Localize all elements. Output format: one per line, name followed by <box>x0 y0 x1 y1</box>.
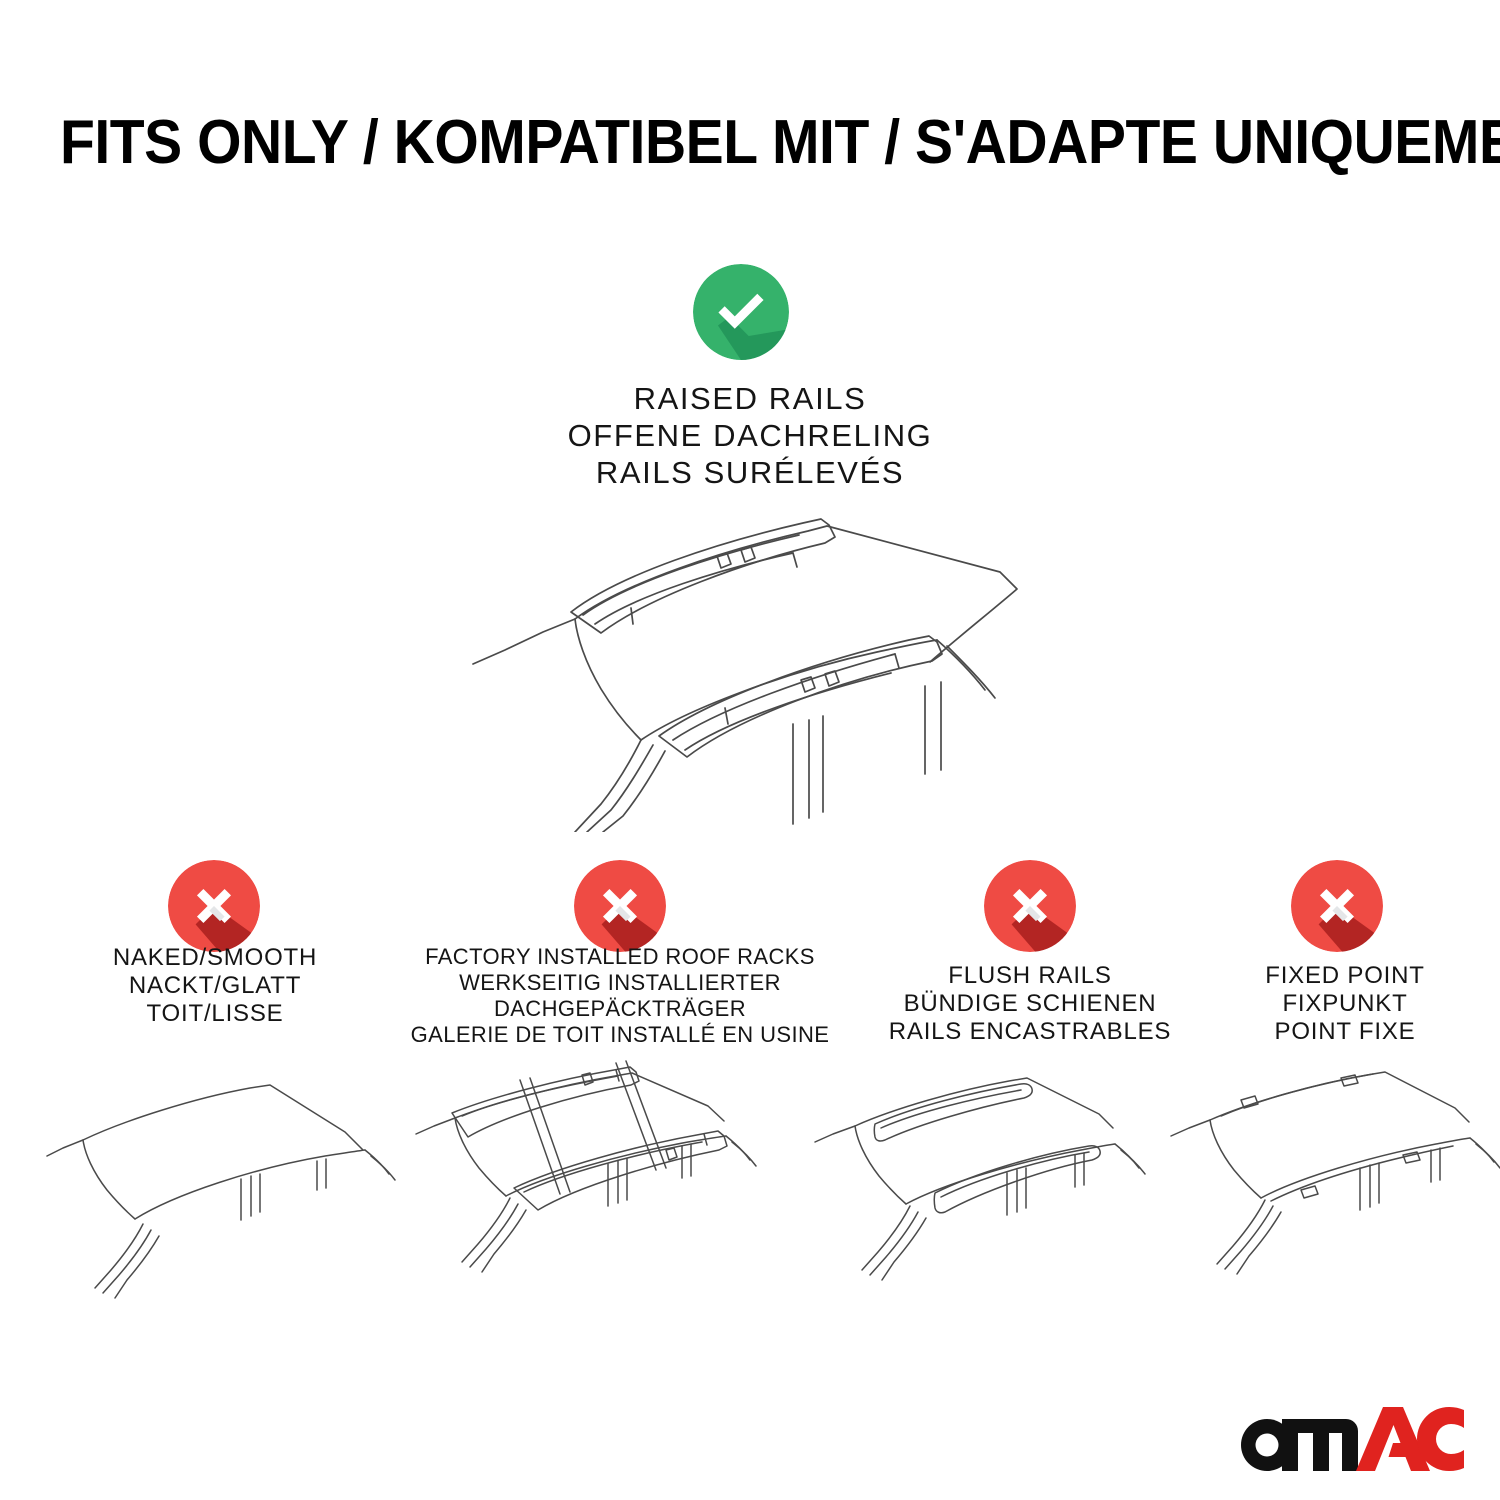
car-roof-factory-roof-racks-illustration <box>410 1058 790 1313</box>
compatible-line-1: RAISED RAILS <box>400 380 1100 417</box>
incompatible-caption-fixed-point: FIXED POINT FIXPUNKT POINT FIXE <box>1215 962 1475 1046</box>
page-title: FITS ONLY / KOMPATIBEL MIT / S'ADAPTE UN… <box>60 108 1440 178</box>
cross-circle-icon-flush-rails <box>984 860 1076 952</box>
car-roof-raised-rails-illustration <box>425 512 1085 832</box>
incompatible-1-line-3: DACHGEPÄCKTRÄGER <box>395 996 845 1022</box>
incompatible-caption-naked-smooth: NAKED/SMOOTH NACKT/GLATT TOIT/LISSE <box>55 944 375 1028</box>
incompatible-0-line-1: NAKED/SMOOTH <box>55 944 375 972</box>
check-circle-icon <box>693 264 789 360</box>
incompatible-2-line-3: RAILS ENCASTRABLES <box>865 1018 1195 1046</box>
incompatible-3-line-1: FIXED POINT <box>1215 962 1475 990</box>
car-roof-fixed-point-illustration <box>1155 1058 1500 1310</box>
incompatible-caption-flush-rails: FLUSH RAILS BÜNDIGE SCHIENEN RAILS ENCAS… <box>865 962 1195 1046</box>
compatible-line-2: OFFENE DACHRELING <box>400 417 1100 454</box>
omac-logo <box>1238 1406 1464 1472</box>
incompatible-caption-factory-roof-racks: FACTORY INSTALLED ROOF RACKS WERKSEITIG … <box>395 944 845 1048</box>
cross-circle-icon-fixed-point <box>1291 860 1383 952</box>
car-roof-flush-rails-illustration <box>795 1060 1170 1312</box>
incompatible-2-line-1: FLUSH RAILS <box>865 962 1195 990</box>
incompatible-3-line-2: FIXPUNKT <box>1215 990 1475 1018</box>
incompatible-1-line-4: GALERIE DE TOIT INSTALLÉ EN USINE <box>395 1022 845 1048</box>
compatible-line-3: RAILS SURÉLEVÉS <box>400 454 1100 491</box>
incompatible-0-line-3: TOIT/LISSE <box>55 1000 375 1028</box>
incompatible-0-line-2: NACKT/GLATT <box>55 972 375 1000</box>
cross-circle-icon-factory-roof-racks <box>574 860 666 952</box>
cross-circle-icon-naked-smooth <box>168 860 260 952</box>
incompatible-1-line-2: WERKSEITIG INSTALLIERTER <box>395 970 845 996</box>
incompatible-1-line-1: FACTORY INSTALLED ROOF RACKS <box>395 944 845 970</box>
incompatible-3-line-3: POINT FIXE <box>1215 1018 1475 1046</box>
compatible-caption: RAISED RAILS OFFENE DACHRELING RAILS SUR… <box>400 380 1100 491</box>
logo-letter-m <box>1282 1419 1358 1471</box>
incompatible-2-line-2: BÜNDIGE SCHIENEN <box>865 990 1195 1018</box>
car-roof-naked-smooth-illustration <box>45 1062 415 1312</box>
